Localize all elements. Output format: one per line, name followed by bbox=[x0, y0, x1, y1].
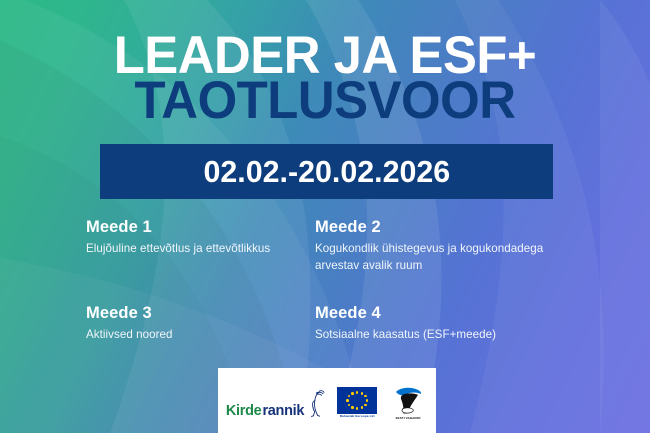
measure-item-4: Meede 4 Sotsiaalne kaasatus (ESF+meede) bbox=[315, 304, 586, 344]
measure-1-description: Elujõuline ettevõtlus ja ettevõtlikkus bbox=[86, 241, 315, 258]
kirderannik-word-part1: Kirde bbox=[226, 404, 262, 419]
measure-1-title: Meede 1 bbox=[86, 218, 315, 237]
measure-3-description: Aktiivsed noored bbox=[86, 327, 315, 344]
measures-grid: Meede 1 Elujõuline ettevõtlus ja ettevõt… bbox=[86, 218, 586, 343]
logo-bar: Kirde rannik bbox=[218, 368, 436, 433]
eu-funding-caption: Rahastab Euroopa Liit bbox=[335, 415, 379, 419]
measure-3-title: Meede 3 bbox=[86, 304, 315, 323]
estonia-caption: EESTI VABARIIK bbox=[388, 417, 428, 421]
kirderannik-logo: Kirde rannik bbox=[226, 388, 326, 418]
measure-4-description: Sotsiaalne kaasatus (ESF+meede) bbox=[315, 327, 586, 344]
measure-item-3: Meede 3 Aktiivsed noored bbox=[86, 304, 315, 344]
date-banner: 02.02.-20.02.2026 bbox=[100, 144, 553, 199]
measure-item-2: Meede 2 Kogukondlik ühistegevus ja koguk… bbox=[315, 218, 586, 275]
date-range-text: 02.02.-20.02.2026 bbox=[203, 154, 450, 190]
measure-2-title: Meede 2 bbox=[315, 218, 586, 237]
poster-headline: LEADER JA ESF+ TAOTLUSVOOR bbox=[0, 32, 650, 126]
eu-flag-icon bbox=[337, 387, 377, 414]
measure-2-description: Kogukondlik ühistegevus ja kogukondadega… bbox=[315, 241, 586, 275]
crane-bird-icon bbox=[306, 388, 326, 418]
estonia-emblem-icon bbox=[390, 386, 426, 416]
kirderannik-word-part2: rannik bbox=[262, 404, 304, 419]
estonia-logo: EESTI VABARIIK bbox=[388, 386, 428, 421]
measure-4-title: Meede 4 bbox=[315, 304, 586, 323]
measure-item-1: Meede 1 Elujõuline ettevõtlus ja ettevõt… bbox=[86, 218, 315, 275]
title-line-2: TAOTLUSVOOR bbox=[13, 77, 637, 126]
eu-funding-logo: Rahastab Euroopa Liit bbox=[335, 387, 379, 419]
poster-root: LEADER JA ESF+ TAOTLUSVOOR 02.02.-20.02.… bbox=[0, 0, 650, 433]
